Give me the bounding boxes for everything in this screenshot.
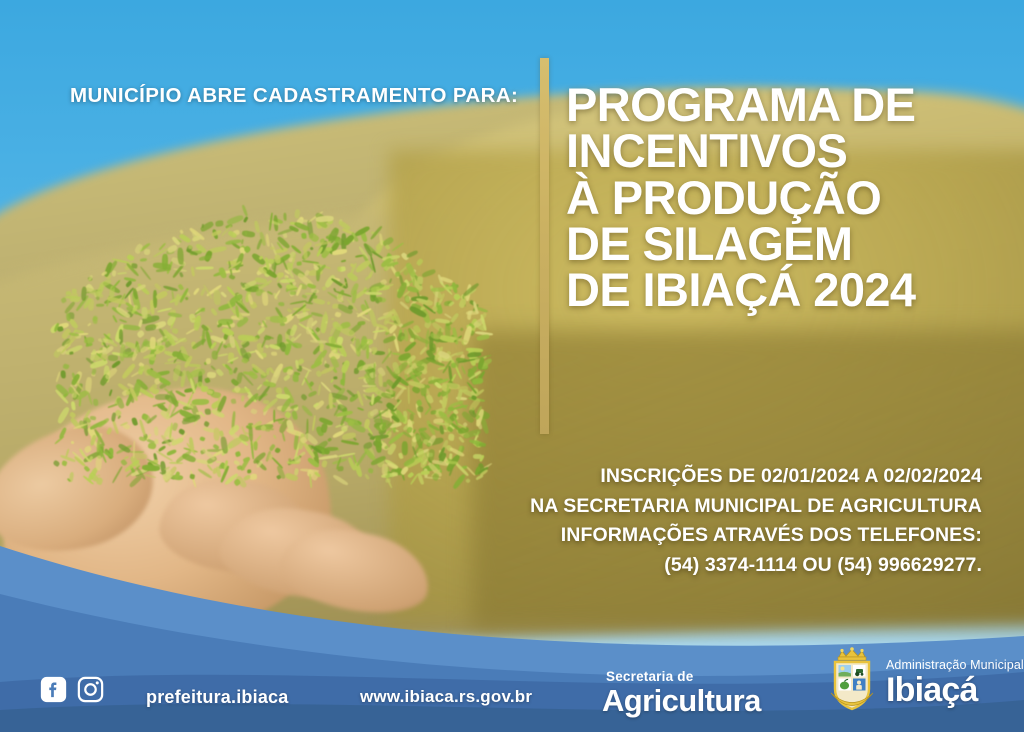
kicker-text: MUNICÍPIO ABRE CADASTRAMENTO PARA: <box>70 84 518 108</box>
page-title: PROGRAMA DE INCENTIVOS À PRODUÇÃO DE SIL… <box>566 82 996 313</box>
administracao-text: Administração Municipal Ibiaçá <box>886 659 1024 707</box>
info-line-dates: INSCRIÇÕES DE 02/01/2024 A 02/02/2024 <box>342 462 982 492</box>
administracao-label: Administração Municipal <box>886 659 1024 672</box>
title-line: INCENTIVOS <box>566 128 996 174</box>
website-url[interactable]: www.ibiaca.rs.gov.br <box>360 687 532 707</box>
title-line: À PRODUÇÃO <box>566 175 996 221</box>
secretaria-label: Secretaria de <box>606 670 761 684</box>
ibiaca-coat-of-arms-icon <box>826 646 878 720</box>
title-line: PROGRAMA DE <box>566 82 996 128</box>
info-line-location: NA SECRETARIA MUNICIPAL DE AGRICULTURA <box>342 492 982 522</box>
secretaria-agricultura-logo: Secretaria de Agricultura <box>602 670 761 717</box>
title-line: DE SILAGEM <box>566 221 996 267</box>
instagram-icon[interactable] <box>77 676 104 708</box>
poster-root: MUNICÍPIO ABRE CADASTRAMENTO PARA: PROGR… <box>0 0 1024 732</box>
title-line: DE IBIAÇÁ 2024 <box>566 267 996 313</box>
facebook-icon[interactable] <box>40 676 67 708</box>
social-handle[interactable]: prefeitura.ibiaca <box>146 687 288 708</box>
ibiaca-label: Ibiaçá <box>886 673 1024 707</box>
agricultura-label: Agricultura <box>602 685 761 716</box>
social-links <box>40 676 104 708</box>
vertical-divider-bar <box>540 58 549 434</box>
administracao-municipal-logo: Administração Municipal Ibiaçá <box>826 646 1024 720</box>
silage-pile <box>10 180 530 510</box>
